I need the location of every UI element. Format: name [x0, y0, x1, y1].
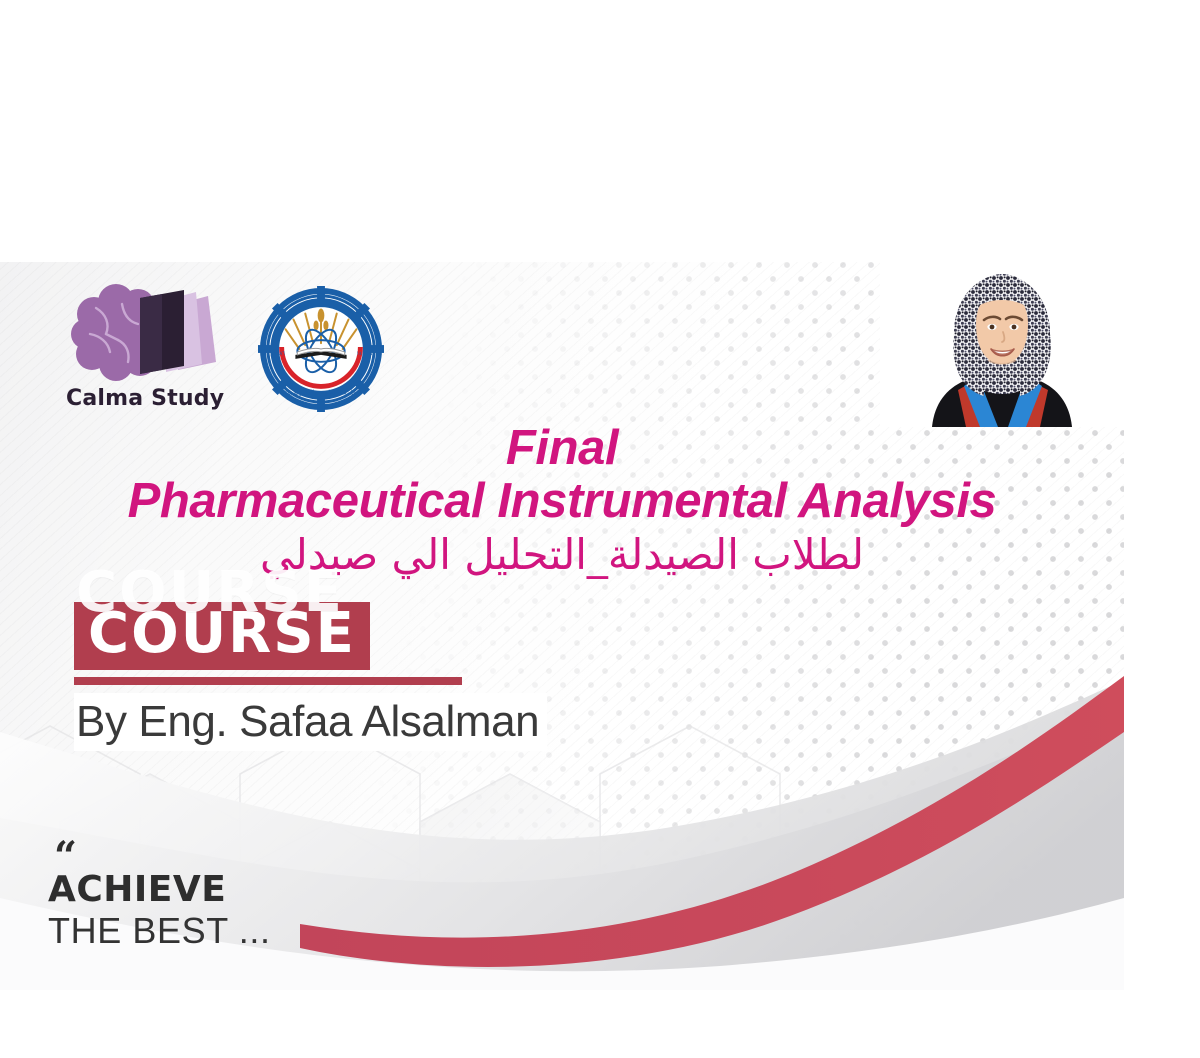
university-seal-icon: جامعة العلوم والتكنولوجيا ١٩٨٦م هـ١٤٠٦	[258, 286, 384, 412]
course-title-slide: Calma Study	[0, 262, 1124, 990]
svg-text:١٩٨٦م: ١٩٨٦م	[270, 351, 285, 357]
svg-text:هـ١٤٠٦: هـ١٤٠٦	[356, 351, 372, 357]
slide-tagline: “ ACHIEVE THE BEST ...	[48, 847, 271, 952]
calma-study-wordmark: Calma Study	[66, 386, 234, 411]
course-banner: COURSE	[74, 602, 370, 670]
headline-line-course-title: Pharmaceutical Instrumental Analysis	[0, 475, 1124, 528]
course-block: COURSE COURSE By Eng. Safaa Alsalman	[74, 602, 734, 751]
quote-mark-icon: “	[54, 847, 271, 869]
course-banner-label: COURSE	[88, 604, 356, 664]
logo-row: Calma Study	[66, 278, 384, 412]
brain-book-icon	[66, 278, 234, 382]
instructor-byline: By Eng. Safaa Alsalman	[76, 697, 539, 746]
headline-line-final: Final	[0, 422, 1124, 475]
screenshot-canvas: Calma Study	[0, 0, 1200, 1058]
calma-study-logo: Calma Study	[66, 278, 234, 411]
svg-text:جامعة العلوم والتكنولوجيا: جامعة العلوم والتكنولوجيا	[285, 388, 357, 396]
tagline-line-the-best: THE BEST ...	[48, 910, 271, 951]
instructor-byline-wrap: By Eng. Safaa Alsalman	[74, 693, 547, 751]
slide-headline: Final Pharmaceutical Instrumental Analys…	[0, 422, 1124, 580]
tagline-line-achieve: ACHIEVE	[48, 869, 271, 910]
instructor-photo	[880, 262, 1124, 427]
course-underline-rule	[74, 677, 462, 685]
instructor-portrait-illustration	[880, 262, 1124, 427]
headline-arabic-subtitle: لطلاب الصيدلة_التحليل الي صيدلي	[0, 530, 1124, 580]
